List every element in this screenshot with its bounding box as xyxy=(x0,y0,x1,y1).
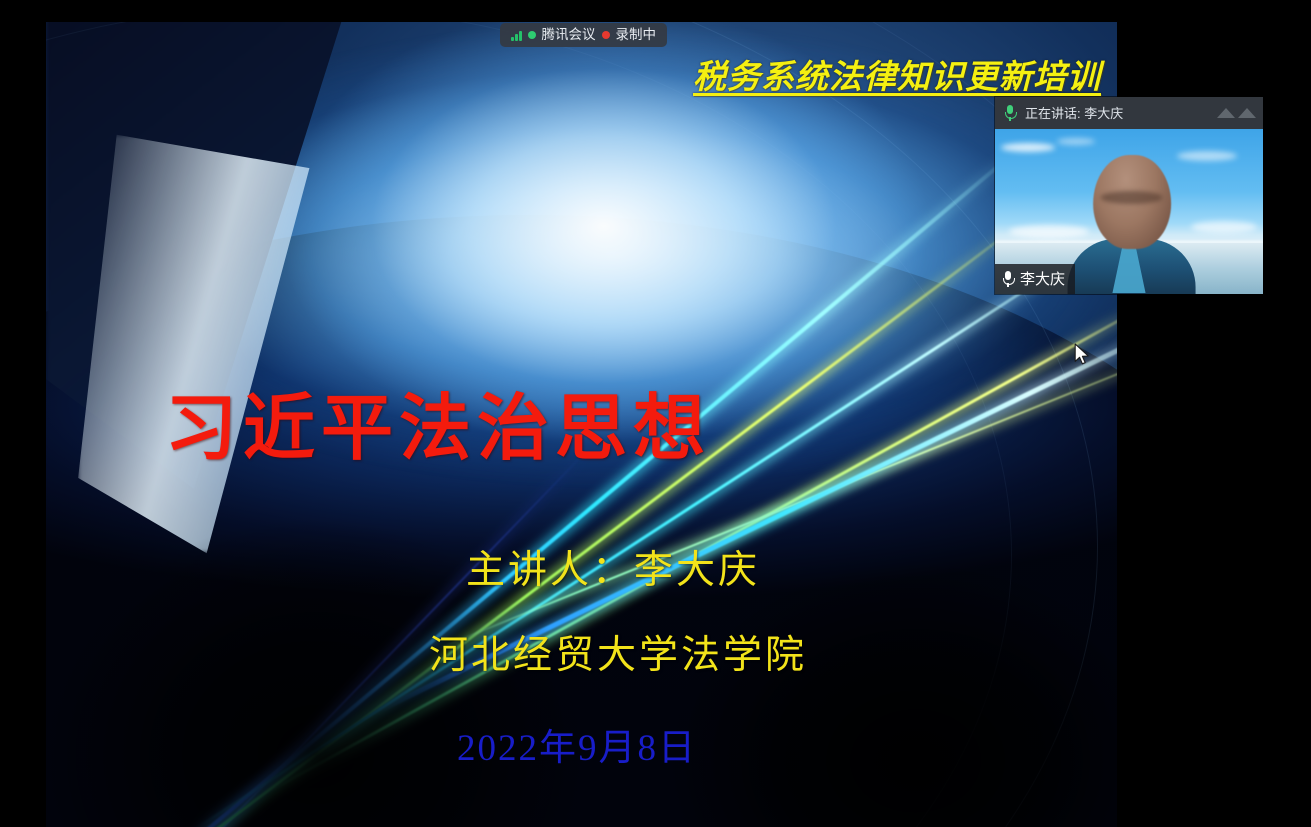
slide-organization-line: 河北经贸大学法学院 xyxy=(429,624,807,680)
slide-presenter-line: 主讲人：李大庆 xyxy=(466,539,760,595)
participant-nameplate: 李大庆 xyxy=(995,264,1075,294)
microphone-icon xyxy=(1001,270,1015,288)
screen-share-view: 税务系统法律知识更新培训 习近平法治思想 主讲人：李大庆 河北经贸大学法学院 2… xyxy=(0,0,1311,827)
cloud-shape xyxy=(1191,221,1257,233)
slide-banner-title: 税务系统法律知识更新培训 xyxy=(693,50,1101,98)
cloud-shape xyxy=(1177,151,1237,161)
slide-main-title: 习近平法治思想 xyxy=(165,369,711,474)
signal-bars-icon xyxy=(511,30,522,41)
collapse-chevrons-icon[interactable] xyxy=(1217,108,1256,118)
cloud-shape xyxy=(1001,143,1055,152)
active-speaker-label: 正在讲话: 李大庆 xyxy=(1025,107,1123,120)
participant-video-panel[interactable]: 正在讲话: 李大庆 李大庆 xyxy=(995,97,1263,294)
connection-status-dot xyxy=(528,31,536,39)
recording-indicator-dot xyxy=(602,31,610,39)
microphone-icon xyxy=(1003,104,1017,122)
video-feed[interactable]: 李大庆 xyxy=(995,129,1263,294)
meeting-app-label: 腾讯会议 xyxy=(542,28,596,42)
video-panel-header[interactable]: 正在讲话: 李大庆 xyxy=(995,97,1263,129)
slide-date-line: 2022年9月8日 xyxy=(457,717,697,771)
recording-status-label: 录制中 xyxy=(616,28,657,42)
participant-name: 李大庆 xyxy=(1020,272,1065,287)
recording-status-pill[interactable]: 腾讯会议 录制中 xyxy=(500,23,667,47)
cloud-shape xyxy=(1057,138,1095,145)
cloud-shape xyxy=(1009,225,1089,238)
participant-face-shadow xyxy=(1100,191,1162,204)
shared-slide[interactable]: 税务系统法律知识更新培训 习近平法治思想 主讲人：李大庆 河北经贸大学法学院 2… xyxy=(46,22,1117,827)
